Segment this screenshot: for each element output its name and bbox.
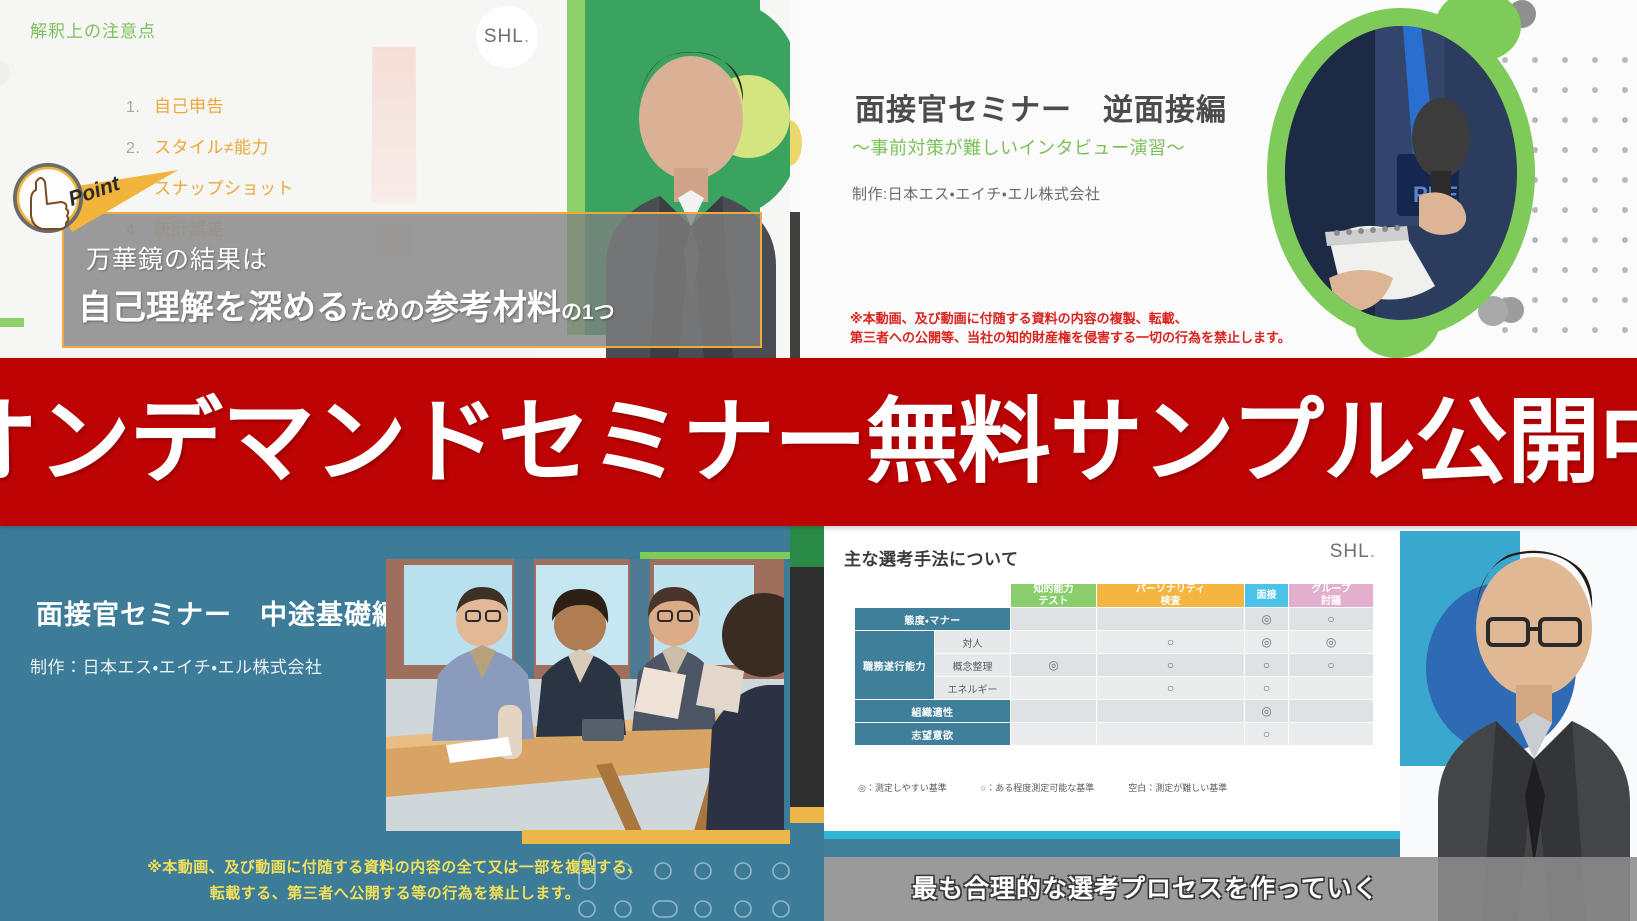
slide-thumbnail-interpretation-notes[interactable]: SHL. 解釈上の注意点 1. 自己申告 2. スタイル≠能力 3. スナップシ… [0,0,790,360]
cell [1289,677,1374,700]
column-header-personality-test: パーソナリティ 検査 [1097,584,1245,608]
column-header-group-discussion: グループ 討議 [1289,584,1374,608]
slide-credit: 制作：日本エス・エイチ・エル株式会社 [30,653,323,678]
shl-logo-label: SHL [484,26,524,47]
header-line-1: グループ [1289,584,1373,596]
copyright-warning: ※本動画、及び動画に付随する資料の内容の複製、転載、 第三者への公開等、当社の知… [850,310,1291,348]
table-row: 志望意欲 ○ [855,723,1374,746]
header-line-2: 討議 [1289,596,1373,608]
cell [1097,700,1245,723]
legend-item: ○：ある程度測定可能な基準 [981,781,1094,794]
promo-banner-text: オンデマンドセミナー無料サンプル公開中 [0,396,1637,489]
strip-segment-green [790,525,824,567]
slide-title: 面接官セミナー 中途基礎編 [36,593,400,632]
selection-methods-table: 知的能力 テスト パーソナリティ 検査 面接 グループ 討議 [854,583,1374,746]
row-label-attitude: 態度・マナー [855,608,1011,631]
cell: ○ [1289,654,1374,677]
caption-line-2: 自己理解を深めるための参考材料の1つ [78,280,615,329]
column-header-interview: 面接 [1245,584,1289,608]
slide-subtitle: ～事前対策が難しいインタビュー演習～ [852,134,1185,160]
slide-title: 解釈上の注意点 [30,17,156,42]
slide-title: 面接官セミナー 逆面接編 [855,85,1227,129]
cell [1289,700,1374,723]
cell [1097,723,1245,746]
strip-segment-yellow [790,807,824,823]
table-row: 職務遂行能力 対人 ○ ◎ ◎ [855,631,1374,654]
slide-title: 主な選考手法について [844,545,1019,570]
cell [1011,608,1097,631]
strip-segment-dark [790,567,824,807]
row-label-conceptual: 概念整理 [935,654,1011,677]
shl-logo-text: SHL. [1330,541,1376,562]
cell: ○ [1245,654,1289,677]
slide-content-area: 主な選考手法について SHL. 知的能力 テスト パーソナリティ [824,531,1400,864]
decor-dark-stub [790,212,800,360]
warning-line-1: ※本動画、及び動画に付随する資料の内容の複製、転載、 [850,310,1291,329]
header-line-2: テスト [1011,596,1096,608]
shl-logo-badge: SHL. [476,6,538,68]
warning-line-2: 転載する、第三者へ公開する等の行為を禁止します。 [0,881,790,907]
promo-banner-image: SHL. 解釈上の注意点 1. 自己申告 2. スタイル≠能力 3. スナップシ… [0,0,1637,921]
cell: ◎ [1245,608,1289,631]
column-header-aptitude-test: 知的能力 テスト [1011,584,1097,608]
slide-left-strip [790,525,824,921]
list-item: 1. 自己申告 [126,92,456,117]
legend-item: ◎：測定しやすい基準 [858,781,947,794]
slide-credit: 制作:日本エス・エイチ・エル株式会社 [852,183,1100,204]
header-line-1: パーソナリティ [1097,584,1244,596]
microphone-photo-blob: PRE [1245,0,1577,350]
legend-item: 空白：測定が難しい基準 [1128,781,1227,794]
copyright-warning: ※本動画、及び動画に付随する資料の内容の全て又は一部を複製する、 転載する、第三… [0,855,790,906]
decor-cyan-bar [824,831,1400,839]
shl-logo-text: SHL. [484,26,530,48]
header-spacer [935,584,1011,608]
decor-yellow-line [522,830,790,844]
header-line-1: 知的能力 [1011,584,1096,596]
cell [1289,723,1374,746]
table-header-row: 知的能力 テスト パーソナリティ 検査 面接 グループ 討議 [855,584,1374,608]
cell [1011,723,1097,746]
row-label-motivation: 志望意欲 [855,723,1011,746]
cell [1011,677,1097,700]
list-item-label: 自己申告 [154,92,224,117]
decor-green-stub [0,318,24,327]
table-legend: ◎：測定しやすい基準 ○：ある程度測定可能な基準 空白：測定が難しい基準 [858,781,1358,794]
shl-logo-label: SHL [1330,541,1370,562]
decor-yellow-dot [790,120,802,166]
meeting-photo [386,559,784,831]
warning-line-1: ※本動画、及び動画に付随する資料の内容の全て又は一部を複製する、 [0,855,790,881]
caption-part-b: ための [350,297,425,325]
warning-line-2: 第三者への公開等、当社の知的財産権を侵害する一切の行為を禁止します。 [850,329,1291,348]
cell: ○ [1245,723,1289,746]
cell: ◎ [1289,631,1374,654]
caption-part-a: 自己理解を深める [78,289,350,327]
point-callout: Point [12,152,182,244]
slide-thumbnail-midcareer-basics[interactable]: 面接官セミナー 中途基礎編 制作：日本エス・エイチ・エル株式会社 [0,525,790,921]
cell: ○ [1097,677,1245,700]
cell: ○ [1245,677,1289,700]
cell: ◎ [1245,700,1289,723]
table-row: 態度・マナー ◎ ○ [855,608,1374,631]
cell: ◎ [1011,654,1097,677]
caption-text: 最も合理的な選考プロセスを作っていく [912,869,1379,905]
table-row: 組織適性 ◎ [855,700,1374,723]
cell: ◎ [1245,631,1289,654]
cell: ○ [1097,654,1245,677]
header-line-2: 検査 [1097,596,1244,608]
cell [1097,608,1245,631]
promo-banner: オンデマンドセミナー無料サンプル公開中 [0,358,1637,526]
decor-teal-bar [824,839,1400,857]
row-group-label-job-performance: 職務遂行能力 [855,631,935,700]
list-item-number: 1. [126,99,154,117]
shl-logo: SHL. [1330,541,1376,563]
decor-green-line [640,552,790,559]
slide-thumbnail-reverse-interview[interactable]: 面接官セミナー 逆面接編 ～事前対策が難しいインタビュー演習～ 制作:日本エス・… [790,0,1637,360]
caption-line-1: 万華鏡の結果は [86,240,268,276]
video-caption-bar: 最も合理的な選考プロセスを作っていく [824,857,1637,921]
cell: ○ [1097,631,1245,654]
caption-part-d: の1つ [561,301,615,324]
cell [1011,700,1097,723]
cell [1011,631,1097,654]
row-label-org-fit: 組織適性 [855,700,1011,723]
slide-thumbnail-selection-methods[interactable]: 主な選考手法について SHL. 知的能力 テスト パーソナリティ [790,525,1637,921]
caption-part-c: 参考材料 [425,289,561,327]
row-label-energy: エネルギー [935,677,1011,700]
cell: ○ [1289,608,1374,631]
interview-photo: PRE [1285,26,1517,320]
header-line-1: 面接 [1245,590,1288,602]
row-label-interpersonal: 対人 [935,631,1011,654]
header-spacer [855,584,935,608]
